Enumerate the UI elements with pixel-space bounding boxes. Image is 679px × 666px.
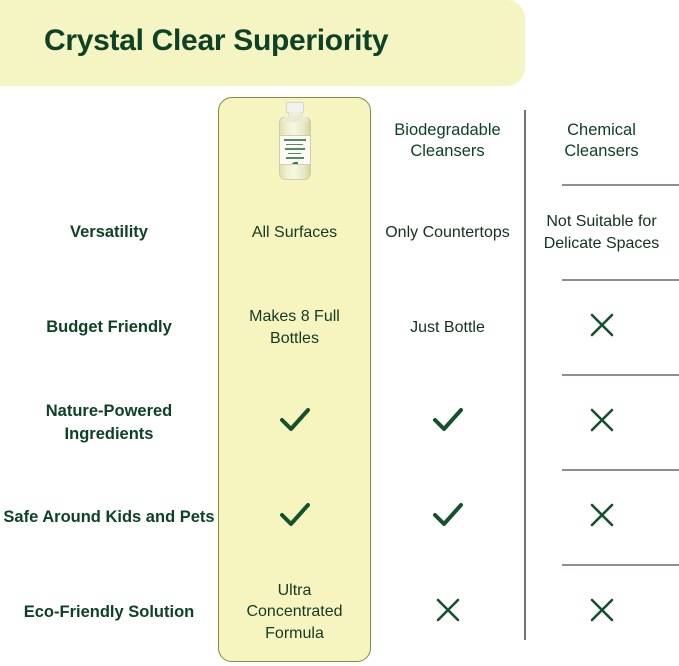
table-row: Eco-Friendly Solution Ultra Concentrated…: [0, 565, 679, 659]
cross-mark-icon: [586, 499, 618, 531]
chemical-cell: [524, 565, 679, 659]
table-header-row: Biodegradable Cleansers Chemical Cleanse…: [0, 97, 679, 185]
biodegradable-cell: Just Bottle: [371, 280, 524, 375]
column-header-chemical: Chemical Cleansers: [524, 120, 679, 163]
feature-label: Eco-Friendly Solution: [0, 601, 218, 623]
title-banner: Crystal Clear Superiority: [0, 0, 525, 86]
feature-cell: Eco-Friendly Solution: [0, 565, 218, 659]
check-mark-icon: [429, 403, 467, 437]
cell-value-product: Ultra Concentrated Formula: [218, 580, 371, 645]
bottle-shoulder: [282, 116, 308, 122]
chemical-cell: [524, 375, 679, 470]
table-row: Versatility All Surfaces Only Countertop…: [0, 185, 679, 280]
feature-label: Nature-Powered Ingredients: [0, 400, 218, 445]
table-row: Nature-Powered Ingredients: [0, 375, 679, 470]
feature-label: Safe Around Kids and Pets: [0, 506, 218, 528]
feature-label: Budget Friendly: [0, 316, 218, 338]
biodegradable-cell: Only Countertops: [371, 185, 524, 280]
leaf-icon: [292, 162, 298, 166]
feature-cell: Versatility: [0, 185, 218, 280]
product-bottle-image: [271, 102, 319, 180]
cell-value-product: Makes 8 Full Bottles: [218, 306, 371, 349]
product-cell: Ultra Concentrated Formula: [218, 565, 371, 659]
check-mark-icon: [276, 498, 314, 532]
product-cell: All Surfaces: [218, 185, 371, 280]
table-row: Safe Around Kids and Pets: [0, 470, 679, 565]
biodegradable-cell: [371, 565, 524, 659]
cross-mark-icon: [586, 404, 618, 436]
cell-value-chemical: Not Suitable for Delicate Spaces: [524, 211, 679, 254]
product-cell: Makes 8 Full Bottles: [218, 280, 371, 375]
table-row: Budget Friendly Makes 8 Full Bottles Jus…: [0, 280, 679, 375]
biodegradable-cell: [371, 375, 524, 470]
comparison-table: Biodegradable Cleansers Chemical Cleanse…: [0, 97, 679, 659]
column-divider: [524, 110, 526, 640]
bottle-label: [280, 135, 310, 165]
feature-label: Versatility: [0, 221, 218, 243]
header-cell-feature: [0, 97, 218, 185]
feature-cell: Budget Friendly: [0, 280, 218, 375]
cell-value-biodegradable: Just Bottle: [371, 317, 524, 339]
feature-cell: Nature-Powered Ingredients: [0, 375, 218, 470]
cross-mark-icon: [432, 594, 464, 626]
cell-value-product: All Surfaces: [218, 222, 371, 244]
header-cell-product: [218, 97, 371, 185]
product-cell: [218, 470, 371, 565]
header-cell-chemical: Chemical Cleansers: [524, 97, 679, 185]
product-cell: [218, 375, 371, 470]
cross-mark-icon: [586, 309, 618, 341]
page-title: Crystal Clear Superiority: [44, 24, 388, 58]
chemical-cell: Not Suitable for Delicate Spaces: [524, 185, 679, 280]
check-mark-icon: [429, 498, 467, 532]
header-cell-biodegradable: Biodegradable Cleansers: [371, 97, 524, 185]
column-header-biodegradable: Biodegradable Cleansers: [371, 120, 524, 163]
cross-mark-icon: [586, 594, 618, 626]
cell-value-biodegradable: Only Countertops: [371, 222, 524, 244]
chemical-cell: [524, 470, 679, 565]
check-mark-icon: [276, 403, 314, 437]
biodegradable-cell: [371, 470, 524, 565]
feature-cell: Safe Around Kids and Pets: [0, 470, 218, 565]
chemical-cell: [524, 280, 679, 375]
